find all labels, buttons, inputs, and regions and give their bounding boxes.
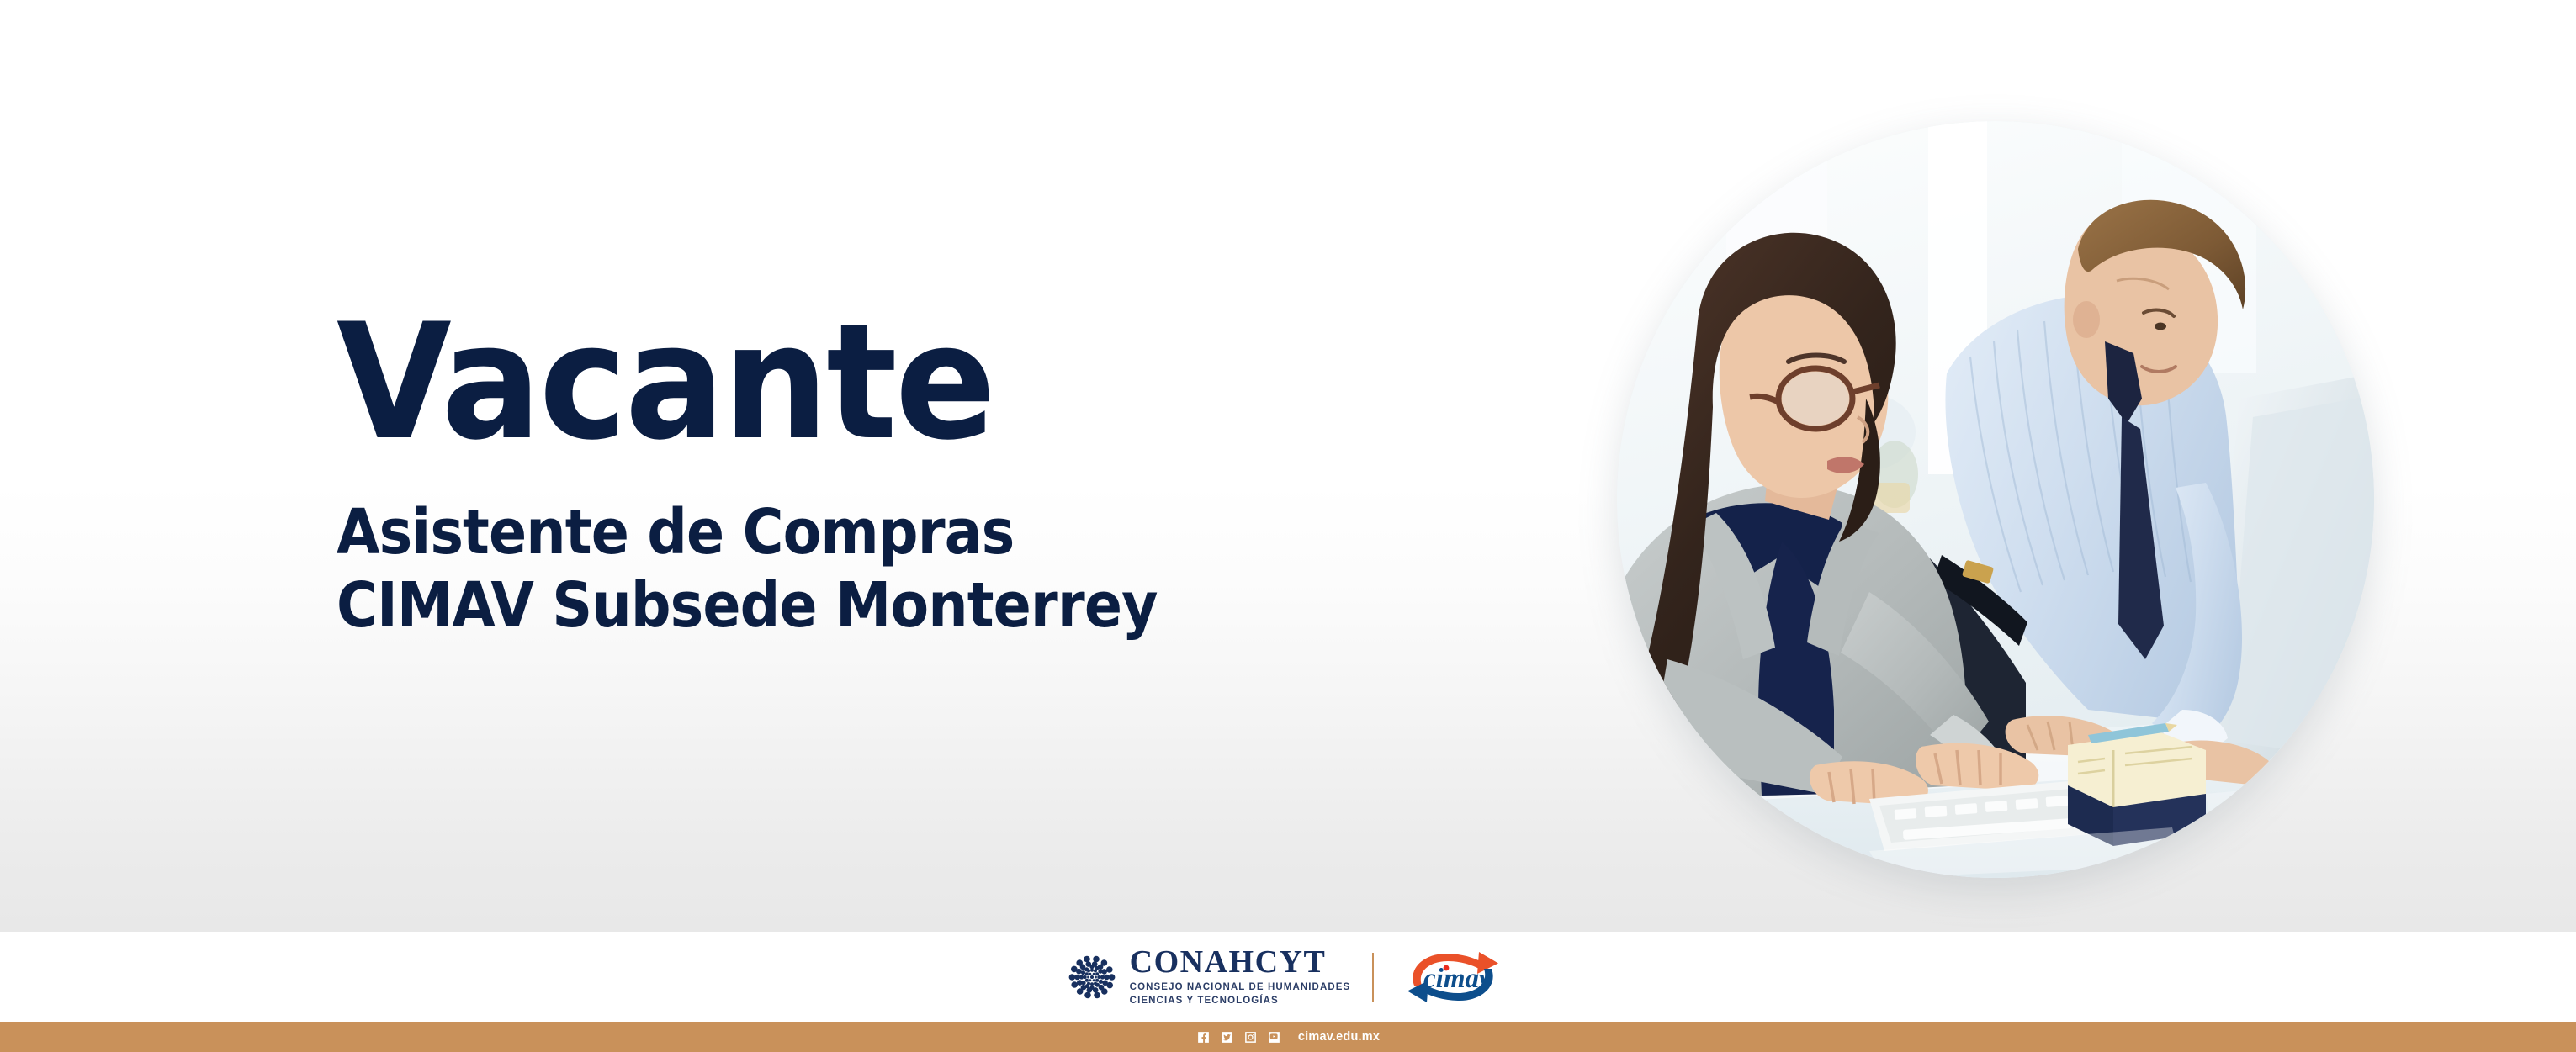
logo-strip: CONAHCYT CONSEJO NACIONAL DE HUMANIDADES… <box>0 932 2576 1022</box>
cimav-arrows-logo[interactable]: cimav <box>1396 947 1510 1007</box>
hero-photo-circle <box>1617 121 2374 878</box>
vacancy-banner: Vacante Asistente de Compras CIMAV Subse… <box>0 0 2576 1052</box>
instagram-icon[interactable] <box>1243 1030 1258 1044</box>
footer-inner: cimav.edu.mx <box>1196 1030 1380 1044</box>
youtube-icon[interactable] <box>1267 1030 1281 1044</box>
facebook-icon[interactable] <box>1196 1030 1211 1044</box>
page-title: Vacante <box>337 303 1354 463</box>
conahcyt-logo[interactable]: CONAHCYT CONSEJO NACIONAL DE HUMANIDADES… <box>1066 946 1351 1007</box>
conahcyt-subtitle: CONSEJO NACIONAL DE HUMANIDADES CIENCIAS… <box>1130 981 1351 1007</box>
subtitle-line-2: CIMAV Subsede Monterrey <box>337 569 1321 642</box>
svg-text:cimav: cimav <box>1423 964 1492 994</box>
footer-url[interactable]: cimav.edu.mx <box>1298 1030 1380 1044</box>
twitter-icon[interactable] <box>1220 1030 1234 1044</box>
page-subtitle: Asistente de Compras CIMAV Subsede Monte… <box>337 496 1321 643</box>
conahcyt-subtitle-line-1: CONSEJO NACIONAL DE HUMANIDADES <box>1130 981 1351 995</box>
hero-photo-clip <box>1617 121 2374 878</box>
office-team-photo <box>1617 121 2374 878</box>
banner-text-block: Vacante Asistente de Compras CIMAV Subse… <box>337 303 1430 643</box>
logo-divider <box>1372 953 1374 1002</box>
footer-bar: cimav.edu.mx <box>0 1022 2576 1052</box>
conahcyt-title: CONAHCYT <box>1130 946 1351 978</box>
conahcyt-wordmark: CONAHCYT CONSEJO NACIONAL DE HUMANIDADES… <box>1130 946 1351 1007</box>
logo-row: CONAHCYT CONSEJO NACIONAL DE HUMANIDADES… <box>1066 932 1511 1022</box>
conahcyt-subtitle-line-2: CIENCIAS Y TECNOLOGÍAS <box>1130 995 1351 1008</box>
conahcyt-dot-spiral-mark <box>1066 951 1118 1003</box>
subtitle-line-1: Asistente de Compras <box>337 496 1321 569</box>
